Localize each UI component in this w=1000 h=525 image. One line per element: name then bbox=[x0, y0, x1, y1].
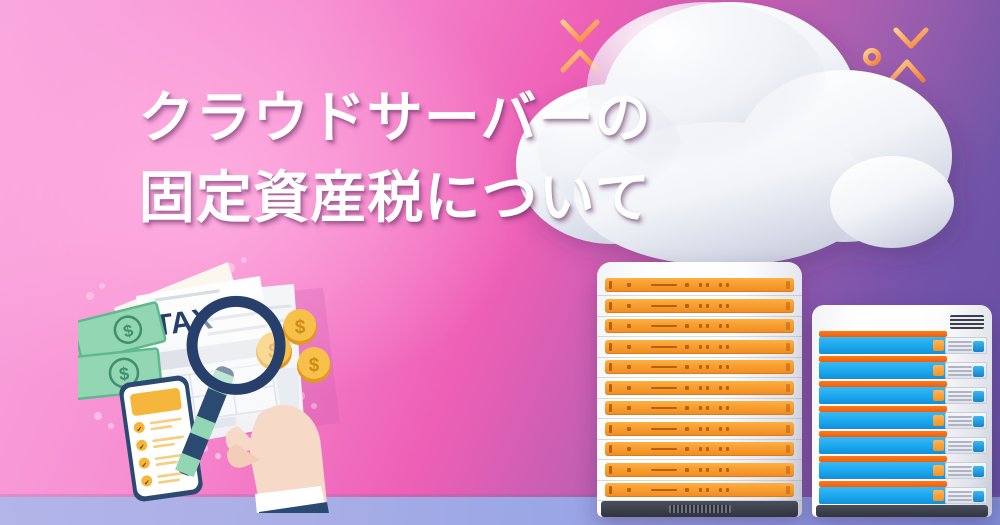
server-side-panel bbox=[945, 362, 987, 379]
server-slot bbox=[819, 487, 947, 504]
server-slot bbox=[819, 437, 947, 454]
server-slot bbox=[605, 299, 794, 313]
page-title: クラウドサーバーの 固定資産税について bbox=[0, 78, 790, 237]
svg-text:✔: ✔ bbox=[144, 480, 151, 488]
tax-illustration: TAX $ bbox=[78, 248, 378, 513]
server-slot bbox=[605, 422, 794, 436]
server-slot bbox=[605, 381, 794, 395]
server-slot bbox=[819, 362, 947, 379]
server-side-panel bbox=[945, 462, 987, 479]
server-slot bbox=[605, 319, 794, 333]
coin: $ bbox=[297, 347, 331, 383]
server-side-panel bbox=[945, 387, 987, 404]
server-vent-icon bbox=[950, 315, 984, 329]
server-slot bbox=[605, 442, 794, 456]
server-slot bbox=[605, 483, 794, 497]
server-slot-divider bbox=[597, 439, 802, 440]
server-slot-divider bbox=[597, 316, 802, 317]
server-side-panel bbox=[945, 437, 987, 454]
server-slot bbox=[819, 337, 947, 354]
server-slot bbox=[819, 412, 947, 429]
server-rack-orange bbox=[597, 262, 802, 517]
server-slot-divider bbox=[597, 398, 802, 399]
server-base bbox=[816, 505, 988, 517]
server-slot-divider bbox=[597, 480, 802, 481]
server-slot-divider bbox=[597, 336, 802, 337]
server-side-panel bbox=[945, 487, 987, 504]
svg-text:$: $ bbox=[295, 317, 306, 338]
server-slot bbox=[605, 360, 794, 374]
server-slot-divider bbox=[597, 459, 802, 460]
svg-text:✔: ✔ bbox=[139, 444, 146, 452]
server-side-panel bbox=[945, 412, 987, 429]
svg-text:✔: ✔ bbox=[136, 426, 143, 434]
server-slot-divider bbox=[597, 377, 802, 378]
svg-text:$: $ bbox=[309, 355, 320, 376]
server-slot bbox=[605, 340, 794, 354]
server-side-panel bbox=[945, 337, 987, 354]
server-rack-blue bbox=[812, 305, 992, 517]
server-slot-divider bbox=[597, 418, 802, 419]
server-slot bbox=[819, 462, 947, 479]
server-slot-divider bbox=[597, 357, 802, 358]
server-vent-icon bbox=[669, 505, 731, 513]
title-line-2: 固定資産税について bbox=[0, 158, 790, 238]
svg-text:$: $ bbox=[118, 363, 130, 384]
hero-banner: クラウドサーバーの 固定資産税について bbox=[0, 0, 1000, 525]
title-line-1: クラウドサーバーの bbox=[0, 78, 790, 158]
server-slot bbox=[819, 387, 947, 404]
server-slot-divider bbox=[597, 295, 802, 296]
server-slot bbox=[605, 401, 794, 415]
svg-text:✔: ✔ bbox=[141, 462, 148, 470]
server-slot bbox=[605, 278, 794, 292]
server-slot bbox=[605, 463, 794, 477]
